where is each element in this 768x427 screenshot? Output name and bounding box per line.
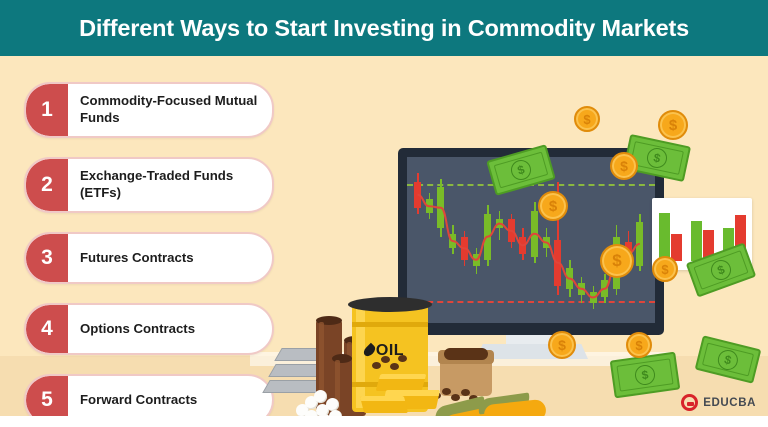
dollar-coin: $ xyxy=(610,152,638,180)
list-item[interactable]: 4 Options Contracts xyxy=(24,303,274,355)
dollar-symbol: $ xyxy=(634,364,657,387)
dollar-symbol: $ xyxy=(549,198,557,215)
dollar-coin: $ xyxy=(548,331,576,359)
dollar-coin: $ xyxy=(652,256,678,282)
cotton-bolls xyxy=(296,390,352,416)
bar-loss xyxy=(671,234,682,261)
bar-gain xyxy=(691,221,702,261)
page-title: Different Ways to Start Investing in Com… xyxy=(79,15,689,42)
header-banner: Different Ways to Start Investing in Com… xyxy=(0,0,768,56)
illustration-canvas: 1 Commodity-Focused Mutual Funds 2 Excha… xyxy=(0,56,768,416)
educba-e-icon xyxy=(681,394,698,411)
gold-bar xyxy=(376,374,427,391)
dollar-symbol: $ xyxy=(669,117,677,134)
dollar-symbol: $ xyxy=(661,262,668,277)
bar-gain xyxy=(659,213,670,261)
dollar-symbol: $ xyxy=(708,257,734,283)
dollar-coin: $ xyxy=(574,106,600,132)
list-item[interactable]: 5 Forward Contracts xyxy=(24,374,274,416)
gold-bar xyxy=(360,396,408,413)
dollar-coin: $ xyxy=(626,332,652,358)
list-item-number: 1 xyxy=(26,84,68,136)
list-item-label: Futures Contracts xyxy=(68,234,272,282)
barrel-ring xyxy=(352,322,428,327)
dollar-symbol: $ xyxy=(509,158,534,183)
ways-list: 1 Commodity-Focused Mutual Funds 2 Excha… xyxy=(24,82,274,416)
dollar-symbol: $ xyxy=(635,338,642,353)
infographic-poster: Different Ways to Start Investing in Com… xyxy=(0,0,768,427)
dollar-symbol: $ xyxy=(716,347,740,371)
dollar-coin: $ xyxy=(600,244,634,278)
dollar-symbol: $ xyxy=(645,146,669,170)
coffee-bean-cluster xyxy=(372,354,412,376)
dollar-coin: $ xyxy=(658,110,688,140)
list-item[interactable]: 2 Exchange-Traded Funds (ETFs) xyxy=(24,157,274,213)
footer-strip xyxy=(0,416,768,427)
list-item-label: Exchange-Traded Funds (ETFs) xyxy=(68,159,272,211)
coffee-beans xyxy=(444,348,488,360)
logo-text: EDUCBA xyxy=(703,397,756,409)
list-item-number: 4 xyxy=(26,305,68,353)
list-item-number: 2 xyxy=(26,159,68,211)
list-item[interactable]: 3 Futures Contracts xyxy=(24,232,274,284)
list-item-label: Commodity-Focused Mutual Funds xyxy=(68,84,272,136)
barrel-lid xyxy=(348,297,432,312)
list-item-number: 5 xyxy=(26,376,68,416)
list-item-label: Forward Contracts xyxy=(68,376,272,416)
educba-logo[interactable]: EDUCBA xyxy=(681,394,756,411)
dollar-symbol: $ xyxy=(612,251,621,271)
list-item-number: 3 xyxy=(26,234,68,282)
bar-group xyxy=(659,213,682,261)
dollar-symbol: $ xyxy=(620,158,628,174)
corn-cobs xyxy=(434,396,554,416)
list-item[interactable]: 1 Commodity-Focused Mutual Funds xyxy=(24,82,274,138)
dollar-coin: $ xyxy=(538,191,568,221)
dollar-symbol: $ xyxy=(583,112,590,127)
list-item-label: Options Contracts xyxy=(68,305,272,353)
dollar-symbol: $ xyxy=(558,337,566,353)
